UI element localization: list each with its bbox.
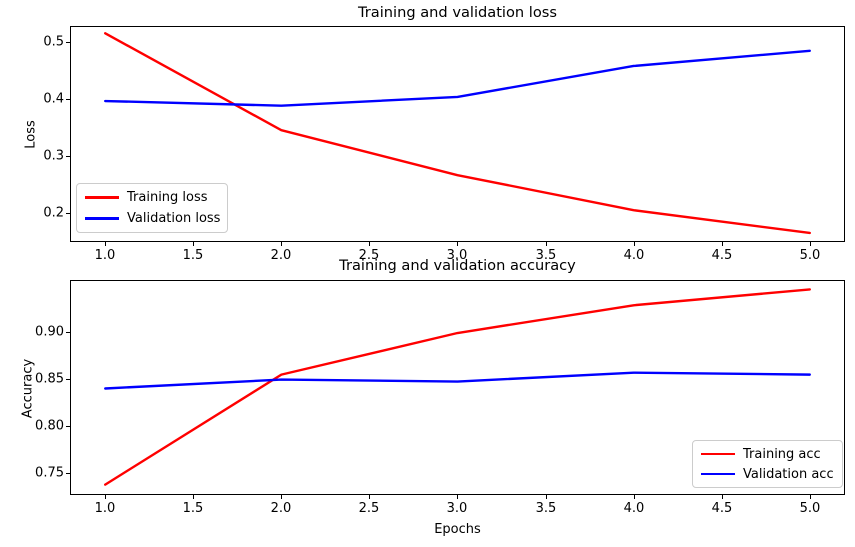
training-acc-swatch-icon <box>701 453 735 455</box>
legend-item-training-acc: Training acc <box>701 446 834 462</box>
matplotlib-figure: Training and validation loss Loss 0.5 0.… <box>0 0 855 547</box>
legend-item-validation-acc: Validation acc <box>701 466 834 482</box>
validation-accuracy-line <box>105 373 810 389</box>
legend-label: Training acc <box>743 448 821 461</box>
accuracy-legend: Training acc Validation acc <box>692 440 843 488</box>
legend-label: Validation acc <box>743 468 834 481</box>
validation-acc-swatch-icon <box>701 473 735 475</box>
